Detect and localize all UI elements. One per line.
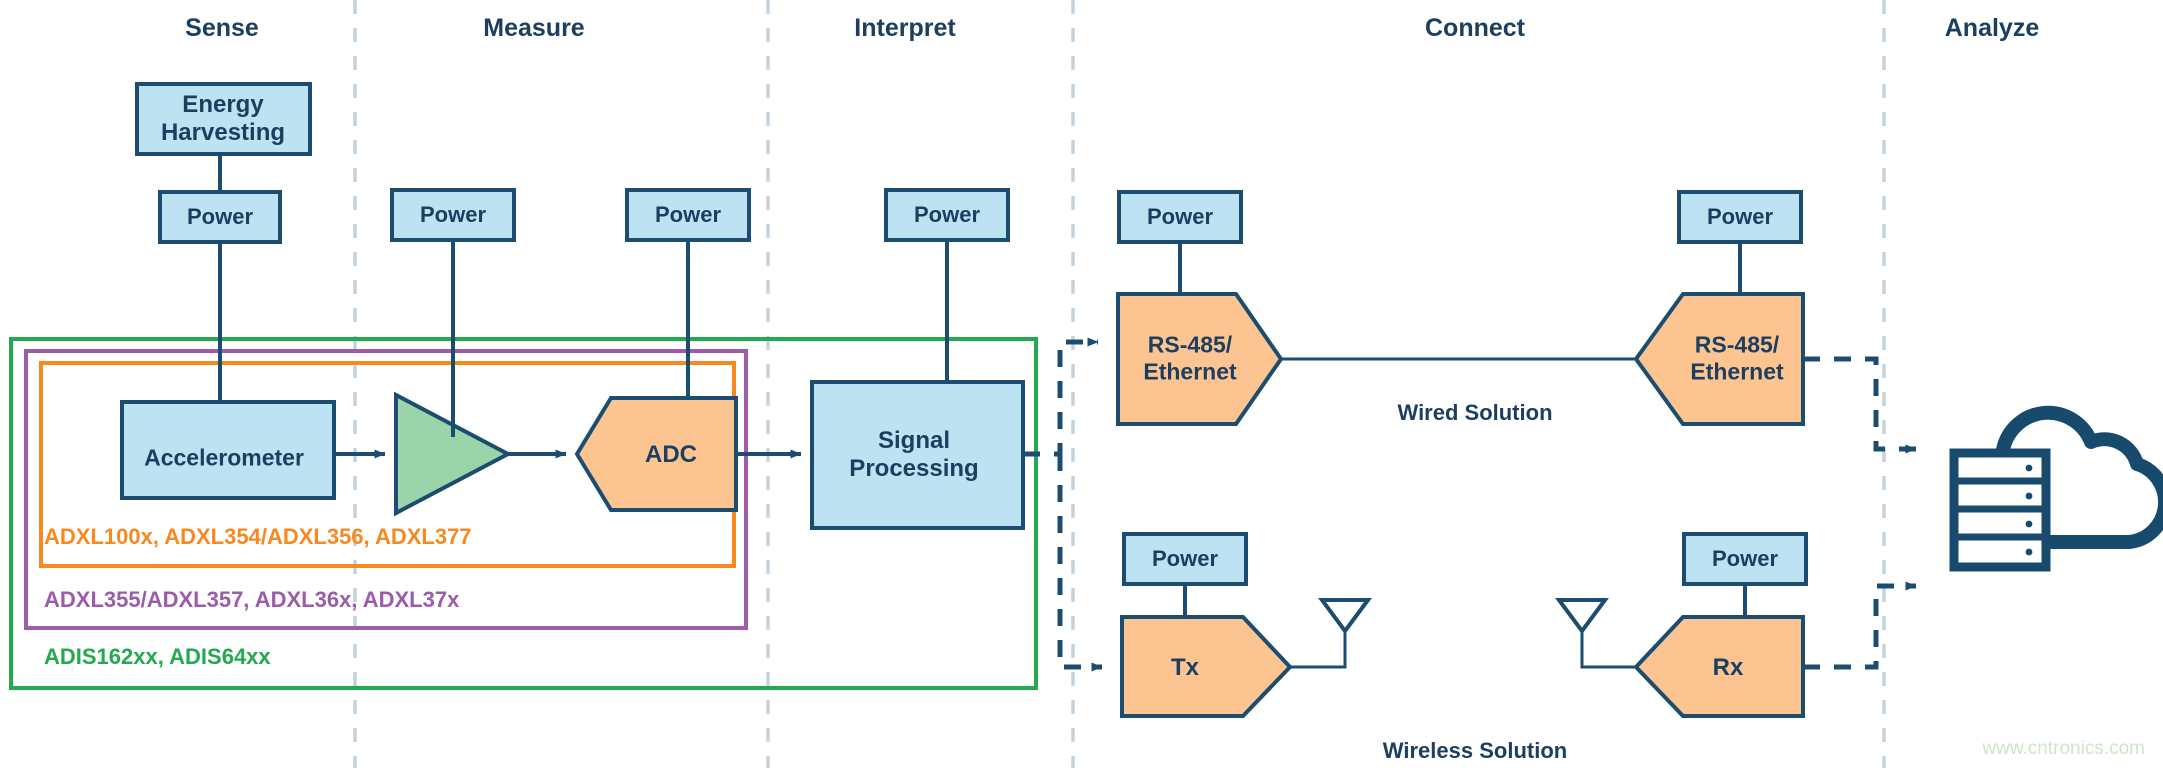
block-tx — [1122, 617, 1290, 716]
label-wireless-solution: Wireless Solution — [1383, 738, 1567, 764]
power-block-rs485-right — [1679, 192, 1801, 242]
dashed-path-signal-processing-to-tx — [1060, 454, 1102, 667]
power-block-rx — [1684, 534, 1806, 584]
block-rx — [1636, 617, 1803, 716]
dashed-path-rx-to-cloud — [1803, 586, 1916, 667]
dashed-path-rs485-to-cloud — [1803, 359, 1916, 449]
diagram-vector-layer — [0, 0, 2163, 768]
part-group-label-green: ADIS162xx, ADIS64xx — [44, 644, 271, 670]
part-group-label-purple: ADXL355/ADXL357, ADXL36x, ADXL37x — [44, 587, 459, 613]
antenna-icon-tx — [1322, 600, 1368, 631]
part-group-label-orange: ADXL100x, ADXL354/ADXL356, ADXL377 — [44, 524, 472, 550]
label-wired-solution: Wired Solution — [1397, 400, 1552, 426]
block-signal-processing — [812, 382, 1023, 528]
power-block-signal-processing — [886, 190, 1008, 240]
power-block-accelerometer — [392, 190, 514, 240]
block-rs485-ethernet-right — [1636, 294, 1803, 424]
watermark: www.cntronics.com — [1982, 738, 2145, 760]
power-block-tx — [1124, 534, 1246, 584]
antenna-icon-rx — [1559, 600, 1605, 631]
block-accelerometer — [122, 402, 334, 498]
line-tx-antenna-lead — [1290, 630, 1345, 667]
power-block-adc — [627, 190, 749, 240]
block-adc — [577, 398, 736, 510]
power-block-rs485-left — [1119, 192, 1241, 242]
block-energy-harvesting — [137, 84, 310, 154]
power-block-energy-harvesting — [160, 192, 280, 242]
cloud-server-icon — [1954, 413, 2163, 567]
line-rx-antenna-lead — [1582, 630, 1636, 667]
diagram-canvas: Sense Measure Interpret Connect Analyze — [0, 0, 2163, 768]
block-rs485-ethernet-left — [1118, 294, 1281, 424]
